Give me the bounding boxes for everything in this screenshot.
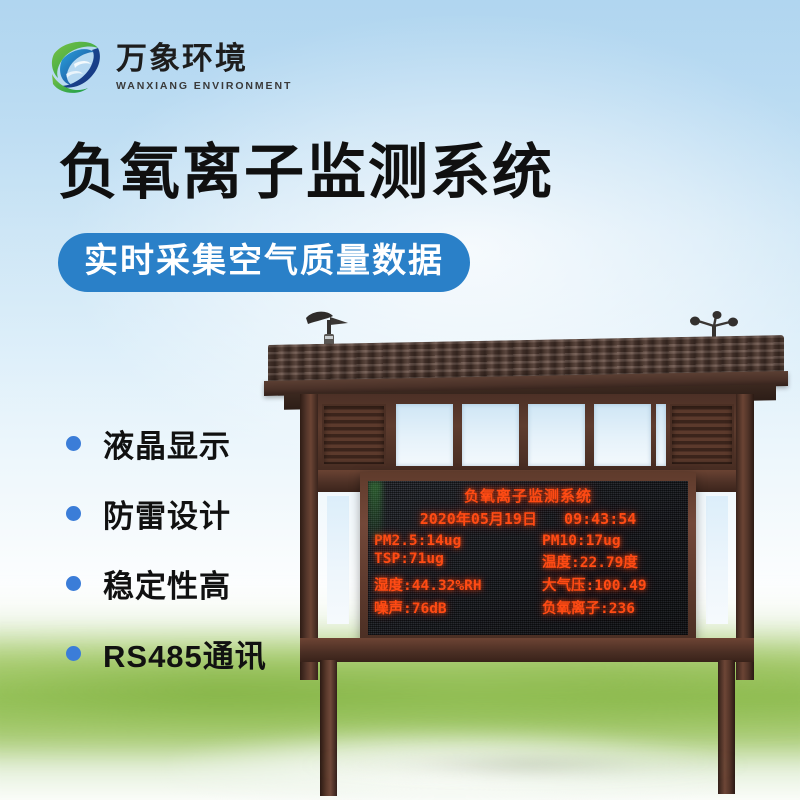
- led-sign-frame: 负氧离子监测系统 2020年05月19日 09:43:54 PM2.5:14ug…: [360, 472, 696, 644]
- subtitle-badge: 实时采集空气质量数据: [58, 233, 470, 292]
- brand-logo-text: 万象环境 WANXIANG ENVIRONMENT: [116, 40, 292, 91]
- window-opening: [396, 404, 453, 466]
- vent-louver-left: [322, 404, 386, 466]
- led-title: 负氧离子监测系统: [368, 485, 688, 506]
- led-reading-pressure: 大气压:100.49: [530, 574, 684, 595]
- poster-canvas: 万象环境 WANXIANG ENVIRONMENT 负氧离子监测系统 实时采集空…: [0, 0, 800, 800]
- led-display-screen[interactable]: 负氧离子监测系统 2020年05月19日 09:43:54 PM2.5:14ug…: [368, 481, 688, 635]
- list-item: 防雷设计: [66, 478, 326, 548]
- led-reading-pm25: PM2.5:14ug: [374, 533, 528, 549]
- side-window-left: [327, 496, 349, 624]
- dot-icon: [66, 576, 81, 591]
- feature-list: 液晶显示 防雷设计 稳定性高 RS485通讯: [66, 408, 326, 688]
- page-title: 负氧离子监测系统: [58, 141, 554, 204]
- station-roof: [268, 336, 784, 400]
- side-window-right: [706, 496, 728, 624]
- list-item: 稳定性高: [66, 548, 326, 618]
- dot-icon: [66, 646, 81, 661]
- led-reading-humidity: 湿度:44.32%RH: [374, 574, 528, 595]
- window-opening: [528, 404, 585, 466]
- led-readings-grid: PM2.5:14ug PM10:17ug TSP:71ug 温度:22.79度 …: [368, 533, 688, 618]
- led-reading-pm10: PM10:17ug: [530, 533, 684, 549]
- led-date: 2020年05月19日: [420, 510, 537, 528]
- vent-louver-right: [670, 404, 734, 466]
- window-opening: [656, 404, 666, 466]
- globe-swirl-logo-icon: [44, 34, 106, 98]
- list-item: RS485通讯: [66, 618, 326, 688]
- led-reading-temperature: 温度:22.79度: [530, 551, 684, 572]
- window-opening: [462, 404, 519, 466]
- lower-rail-beam: [300, 638, 754, 662]
- list-item: 液晶显示: [66, 408, 326, 478]
- dot-icon: [66, 436, 81, 451]
- feature-label: 液晶显示: [103, 421, 231, 466]
- window-opening: [594, 404, 651, 466]
- led-reading-noise: 噪声:76dB: [374, 597, 528, 618]
- brand-name-en: WANXIANG ENVIRONMENT: [116, 80, 292, 92]
- ground-shadow: [290, 742, 760, 788]
- feature-label: 稳定性高: [103, 561, 231, 606]
- brand-name-cn: 万象环境: [116, 42, 292, 75]
- feature-label: RS485通讯: [103, 631, 267, 676]
- brand-logo: 万象环境 WANXIANG ENVIRONMENT: [44, 34, 292, 98]
- led-time: 09:43:54: [564, 510, 636, 528]
- led-reading-tsp: TSP:71ug: [374, 551, 528, 572]
- feature-label: 防雷设计: [103, 491, 231, 536]
- led-reading-negative-ion: 负氧离子:236: [530, 597, 684, 618]
- led-datetime: 2020年05月19日 09:43:54: [368, 508, 688, 529]
- dot-icon: [66, 506, 81, 521]
